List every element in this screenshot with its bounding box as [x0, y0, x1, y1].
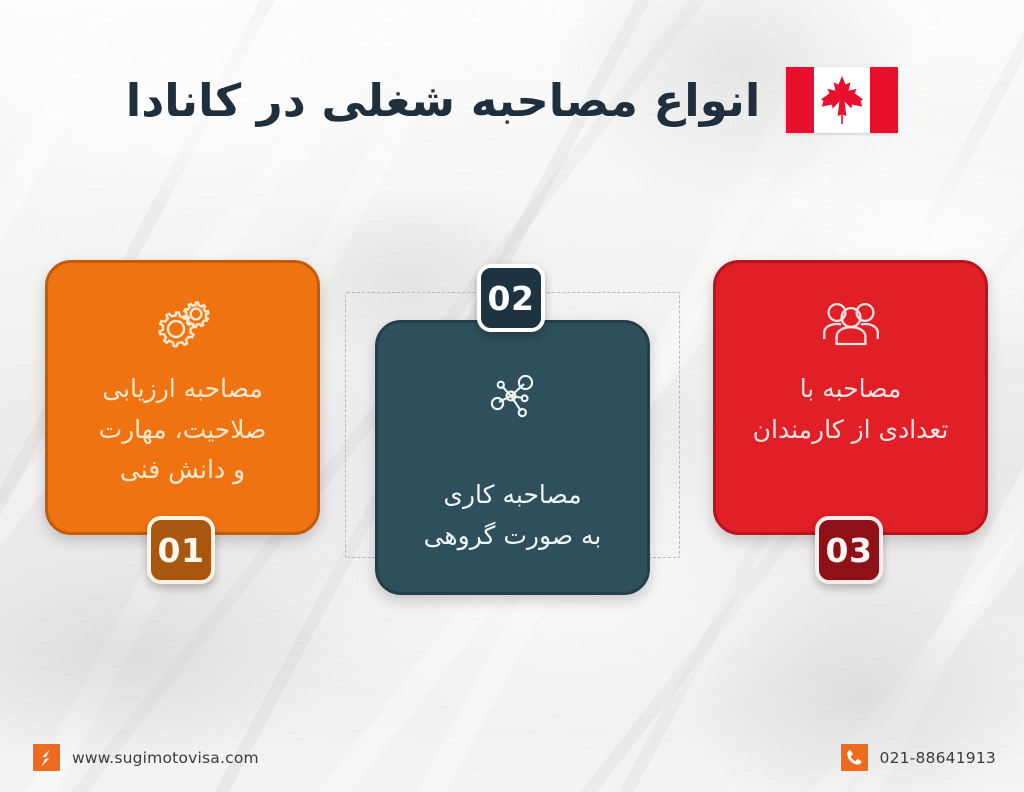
phone-icon	[841, 744, 868, 771]
header: انواع مصاحبه شغلی در کانادا	[0, 56, 1024, 144]
card-text-line: صلاحیت، مهارت	[62, 410, 303, 451]
card-number-badge-01: 01	[147, 516, 215, 584]
card-text: مصاحبه با تعدادی از کارمندان	[716, 369, 985, 450]
card-competency-interview[interactable]: مصاحبه ارزیابی صلاحیت، مهارت و دانش فنی	[45, 260, 320, 535]
people-group-icon	[821, 293, 881, 355]
card-number-badge-02: 02	[477, 264, 545, 332]
network-nodes-icon	[485, 365, 541, 427]
card-text: مصاحبه کاری به صورت گروهی	[378, 475, 647, 556]
card-text-line: مصاحبه ارزیابی	[62, 369, 303, 410]
gears-icon	[152, 293, 214, 355]
website-label: www.sugimotovisa.com	[72, 749, 259, 767]
card-group-interview[interactable]: مصاحبه کاری به صورت گروهی	[375, 320, 650, 595]
maple-leaf-icon	[814, 67, 870, 133]
card-panel-interview[interactable]: مصاحبه با تعدادی از کارمندان	[713, 260, 988, 535]
card-text-line: مصاحبه با	[730, 369, 971, 410]
card-text-line: مصاحبه کاری	[392, 475, 633, 516]
card-text: مصاحبه ارزیابی صلاحیت، مهارت و دانش فنی	[48, 369, 317, 491]
card-text-line: تعدادی از کارمندان	[730, 410, 971, 451]
flag-band-left	[786, 67, 814, 133]
page-title: انواع مصاحبه شغلی در کانادا	[126, 78, 760, 123]
card-text-line: و دانش فنی	[62, 450, 303, 491]
flag-band-right	[870, 67, 898, 133]
phone-label: 021-88641913	[880, 749, 996, 767]
footer-phone[interactable]: 021-88641913	[841, 744, 996, 771]
sugimoto-logo-icon	[33, 744, 60, 771]
canada-flag-icon	[786, 67, 898, 133]
card-text-line: به صورت گروهی	[392, 516, 633, 557]
card-number-badge-03: 03	[815, 516, 883, 584]
footer-website[interactable]: www.sugimotovisa.com	[33, 744, 259, 771]
